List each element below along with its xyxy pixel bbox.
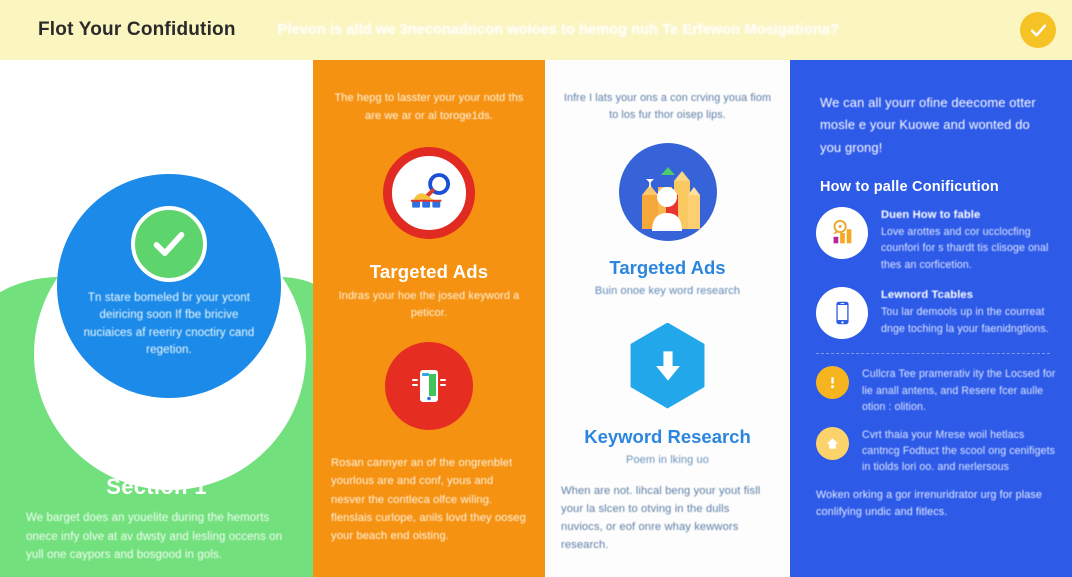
column1-footer: Section 1 We barget does an youelite dur… xyxy=(0,474,313,565)
list-item-desc: Love arottes and cor ucclocfing counfori… xyxy=(881,224,1058,273)
column4-heading: How to palle Conificution xyxy=(820,179,1048,195)
column3-title-2: Keyword Research xyxy=(545,426,790,448)
column4-intro: We can all yourr ofine deecome otter mos… xyxy=(820,92,1048,159)
blue-circle-badge: Tn stare bomeled br your ycont deiricing… xyxy=(57,174,281,398)
check-circle-icon[interactable] xyxy=(1020,12,1056,48)
column-section-2: The hepg to lasster your your notd ths a… xyxy=(313,60,545,577)
list-item: Lewnord Tcables Tou lar demools up in th… xyxy=(816,287,1058,339)
column4-feature-list: Duen How to fable Love arottes and cor u… xyxy=(816,207,1058,339)
home-icon xyxy=(816,427,849,460)
header-bar: Flot Your Confidution Plevon is alld we … xyxy=(0,0,1072,60)
check-glyph xyxy=(149,224,189,264)
list-item: Cvrt thaia your Mrese woil hetlacs cantn… xyxy=(816,427,1058,476)
circle-caption: Tn stare bomeled br your ycont deiricing… xyxy=(74,290,264,360)
list-item-desc: Cullcra Tee pramerativ ity the Locsed fo… xyxy=(862,366,1058,415)
column3-body: When are not. lihcal beng your yout fisl… xyxy=(561,482,774,555)
home-glyph xyxy=(824,435,841,452)
mobile-phone-icon xyxy=(385,342,473,430)
columns-container: Tn stare bomeled br your ycont deiricing… xyxy=(0,60,1072,577)
column2-body: Rosan cannyer an of the ongrenblet yourl… xyxy=(331,454,527,545)
dashed-divider xyxy=(816,353,1050,354)
smartphone-icon xyxy=(816,287,868,339)
download-arrow-glyph xyxy=(646,344,690,388)
list-item-title: Duen How to fable xyxy=(881,209,1058,221)
header-subtitle: Plevon is alld we 3neconadncon woioes to… xyxy=(278,22,839,38)
column3-top-text: Infre I lats your ons a con crving youa … xyxy=(561,90,774,125)
infographic-page: Flot Your Confidution Plevon is alld we … xyxy=(0,0,1072,577)
check-mark-glyph xyxy=(1029,21,1048,40)
column2-title: Targeted Ads xyxy=(313,261,545,283)
check-mark-icon xyxy=(131,206,207,282)
smartphone-glyph xyxy=(827,298,857,328)
column-section-3: Infre I lats your ons a con crving youa … xyxy=(545,60,790,577)
section-title: Section 1 xyxy=(26,474,287,500)
mobile-phone-glyph xyxy=(405,362,453,410)
column3-subtitle-2: Poem in lking uo xyxy=(545,454,790,466)
exclamation-glyph xyxy=(824,374,841,391)
bar-chart-magnifier-glyph xyxy=(827,218,857,248)
column-section-4: We can all yourr ofine deecome otter mos… xyxy=(790,60,1072,577)
column-section-1: Tn stare bomeled br your ycont deiricing… xyxy=(0,60,313,577)
column3-title: Targeted Ads xyxy=(545,257,790,279)
list-item: Cullcra Tee pramerativ ity the Locsed fo… xyxy=(816,366,1058,415)
list-item-text: Lewnord Tcables Tou lar demools up in th… xyxy=(881,287,1058,339)
column3-subtitle: Buin onoe key word research xyxy=(545,285,790,297)
list-item-desc: Cvrt thaia your Mrese woil hetlacs cantn… xyxy=(862,427,1058,476)
page-title: Flot Your Confidution xyxy=(38,19,236,41)
section-body: We barget does an youelite during the he… xyxy=(26,509,287,565)
list-item-desc: Tou lar demools up in the courreat dnge … xyxy=(881,304,1058,337)
column2-top-text: The hepg to lasster your your notd ths a… xyxy=(329,90,529,125)
column4-footer-text: Woken orking a gor irrenuridrator urg fo… xyxy=(816,487,1050,522)
city-people-glyph xyxy=(620,145,716,241)
magnifier-chart-icon xyxy=(383,147,475,239)
magnifier-chart-glyph xyxy=(402,166,456,220)
list-item: Duen How to fable Love arottes and cor u… xyxy=(816,207,1058,273)
exclamation-icon xyxy=(816,366,849,399)
city-people-icon xyxy=(619,143,717,241)
column2-subtitle: Indras your hoe the josed keyword a peti… xyxy=(335,288,523,322)
list-item-title: Lewnord Tcables xyxy=(881,289,1058,301)
list-item-text: Duen How to fable Love arottes and cor u… xyxy=(881,207,1058,273)
column4-bullet-list: Cullcra Tee pramerativ ity the Locsed fo… xyxy=(816,366,1058,475)
download-arrow-icon xyxy=(625,323,711,409)
bar-chart-magnifier-icon xyxy=(816,207,868,259)
